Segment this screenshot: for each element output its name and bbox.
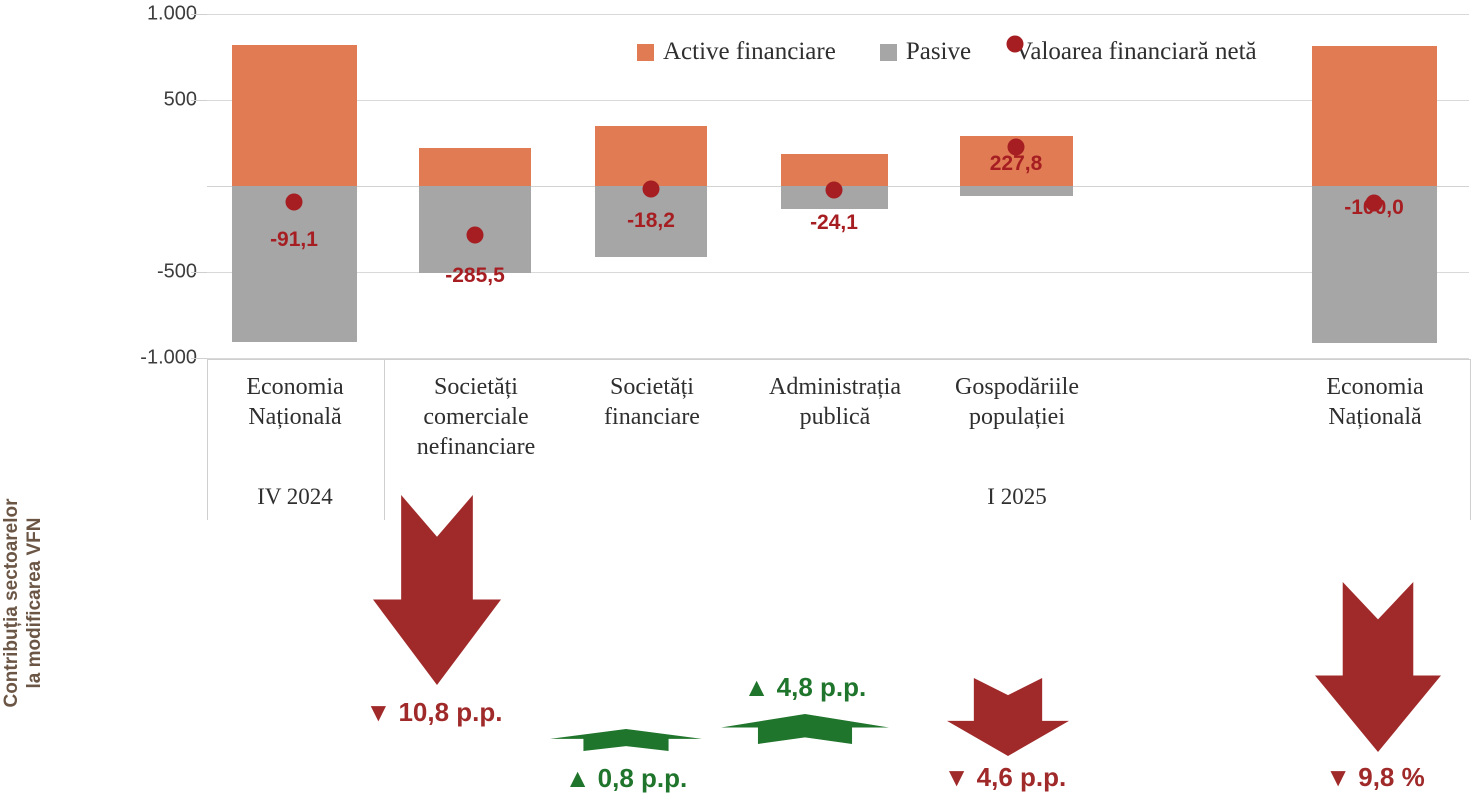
change-annotation-label: ▼ 10,8 p.p. xyxy=(366,697,503,728)
legend-label: Valoarea financiară netă xyxy=(1015,38,1257,66)
arrow-down-icon xyxy=(947,678,1069,756)
arrow-up-icon xyxy=(721,714,889,744)
legend-label: Active financiare xyxy=(663,38,836,66)
legend-circle-icon xyxy=(1007,35,1024,52)
legend-item[interactable]: Valoarea financiară netă xyxy=(1015,38,1257,66)
net-value-label: -100,0 xyxy=(1344,196,1404,220)
y-tick-mark xyxy=(191,358,207,359)
bar-group[interactable] xyxy=(232,0,357,360)
bar-segment-assets[interactable] xyxy=(1312,46,1437,186)
change-annotation-label: ▲ 0,8 p.p. xyxy=(565,763,688,794)
category-label: Economia Națională xyxy=(1326,372,1423,432)
net-value-dot[interactable] xyxy=(643,181,660,198)
net-value-label: -285,5 xyxy=(445,264,505,288)
bar-segment-liabilities[interactable] xyxy=(960,186,1073,196)
y-tick-label: -1.000 xyxy=(87,347,197,370)
bar-segment-assets[interactable] xyxy=(419,148,531,186)
category-label: Gospodăriile populației xyxy=(955,372,1079,432)
arrow-down-icon xyxy=(373,495,501,685)
change-annotation-label: ▼ 4,6 p.p. xyxy=(944,762,1067,793)
category-label: Economia Națională xyxy=(246,372,343,432)
bar-group[interactable] xyxy=(419,0,531,360)
period-label: IV 2024 xyxy=(257,484,333,510)
y-tick-label: 1.000 xyxy=(87,3,197,26)
arrow-down-icon xyxy=(1315,582,1441,752)
net-value-label: -91,1 xyxy=(270,228,318,252)
y-tick-label: -500 xyxy=(87,261,197,284)
net-value-label: -18,2 xyxy=(627,209,675,233)
net-value-label: -24,1 xyxy=(810,211,858,235)
bar-segment-assets[interactable] xyxy=(232,45,357,186)
y-axis-title: Contribuția sectoarelor la modificarea V… xyxy=(0,398,46,808)
category-label: Societăți financiare xyxy=(604,372,700,432)
category-label: Administrația publică xyxy=(769,372,901,432)
legend-square-icon xyxy=(880,44,897,61)
y-tick-mark xyxy=(191,272,207,273)
bar-segment-assets[interactable] xyxy=(595,126,707,186)
bar-group[interactable] xyxy=(1312,0,1437,360)
y-tick-mark xyxy=(191,14,207,15)
plot-area: 1.000500-500-1.000 -91,1-285,5-18,2-24,1… xyxy=(207,0,1469,360)
legend-item[interactable]: Pasive xyxy=(880,38,971,66)
arrow-up-icon xyxy=(550,729,702,751)
legend-square-icon xyxy=(637,44,654,61)
chart-legend: Active financiarePasiveValoarea financia… xyxy=(637,38,1257,66)
change-annotation-label: ▲ 4,8 p.p. xyxy=(744,672,867,703)
y-tick-mark xyxy=(191,100,207,101)
period-label: I 2025 xyxy=(987,484,1046,510)
y-tick-label: 500 xyxy=(87,89,197,112)
legend-label: Pasive xyxy=(906,38,971,66)
category-label: Societăți comerciale nefinanciare xyxy=(417,372,536,462)
net-value-label: 227,8 xyxy=(990,152,1043,176)
net-value-dot[interactable] xyxy=(286,193,303,210)
legend-item[interactable]: Active financiare xyxy=(637,38,836,66)
change-annotation-label: ▼ 9,8 % xyxy=(1325,762,1424,793)
net-value-dot[interactable] xyxy=(467,227,484,244)
net-value-dot[interactable] xyxy=(826,182,843,199)
